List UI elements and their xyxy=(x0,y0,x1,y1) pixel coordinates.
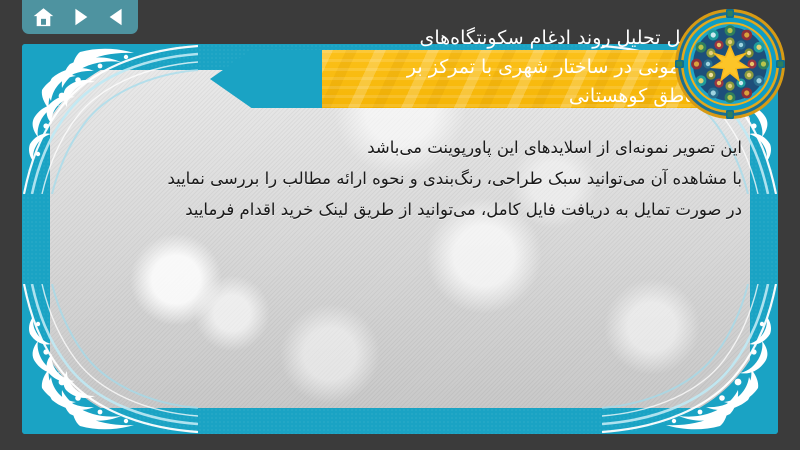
title-line-1: کامل تحلیل روند ادغام سکونتگاه‌های xyxy=(276,24,706,53)
body-line-1: این تصویر نمونه‌ای از اسلایدهای این پاور… xyxy=(62,132,742,163)
slide-viewer: این تصویر نمونه‌ای از اسلایدهای این پاور… xyxy=(0,0,800,450)
persian-mandala-medallion-icon xyxy=(674,8,786,120)
slide-navigation-toolbar xyxy=(22,0,138,34)
title-banner: کامل تحلیل روند ادغام سکونتگاه‌های پیرام… xyxy=(210,28,740,108)
previous-slide-button[interactable] xyxy=(105,5,129,29)
previous-triangle-icon xyxy=(106,6,128,28)
next-triangle-icon xyxy=(69,6,91,28)
title-line-2: پیرامونی در ساختار شهری با تمرکز بر xyxy=(276,53,706,82)
title-line-3: مناطق کوهستانی xyxy=(276,82,706,111)
slide-body-text: این تصویر نمونه‌ای از اسلایدهای این پاور… xyxy=(62,132,742,225)
page-title: کامل تحلیل روند ادغام سکونتگاه‌های پیرام… xyxy=(276,24,706,111)
home-button[interactable] xyxy=(31,5,55,29)
next-slide-button[interactable] xyxy=(68,5,92,29)
body-line-3: در صورت تمایل به دریافت فایل کامل، می‌تو… xyxy=(62,194,742,225)
home-icon xyxy=(32,6,55,29)
slide-canvas xyxy=(50,70,750,408)
body-line-2: با مشاهده آن می‌توانید سبک طراحی، رنگ‌بن… xyxy=(62,163,742,194)
